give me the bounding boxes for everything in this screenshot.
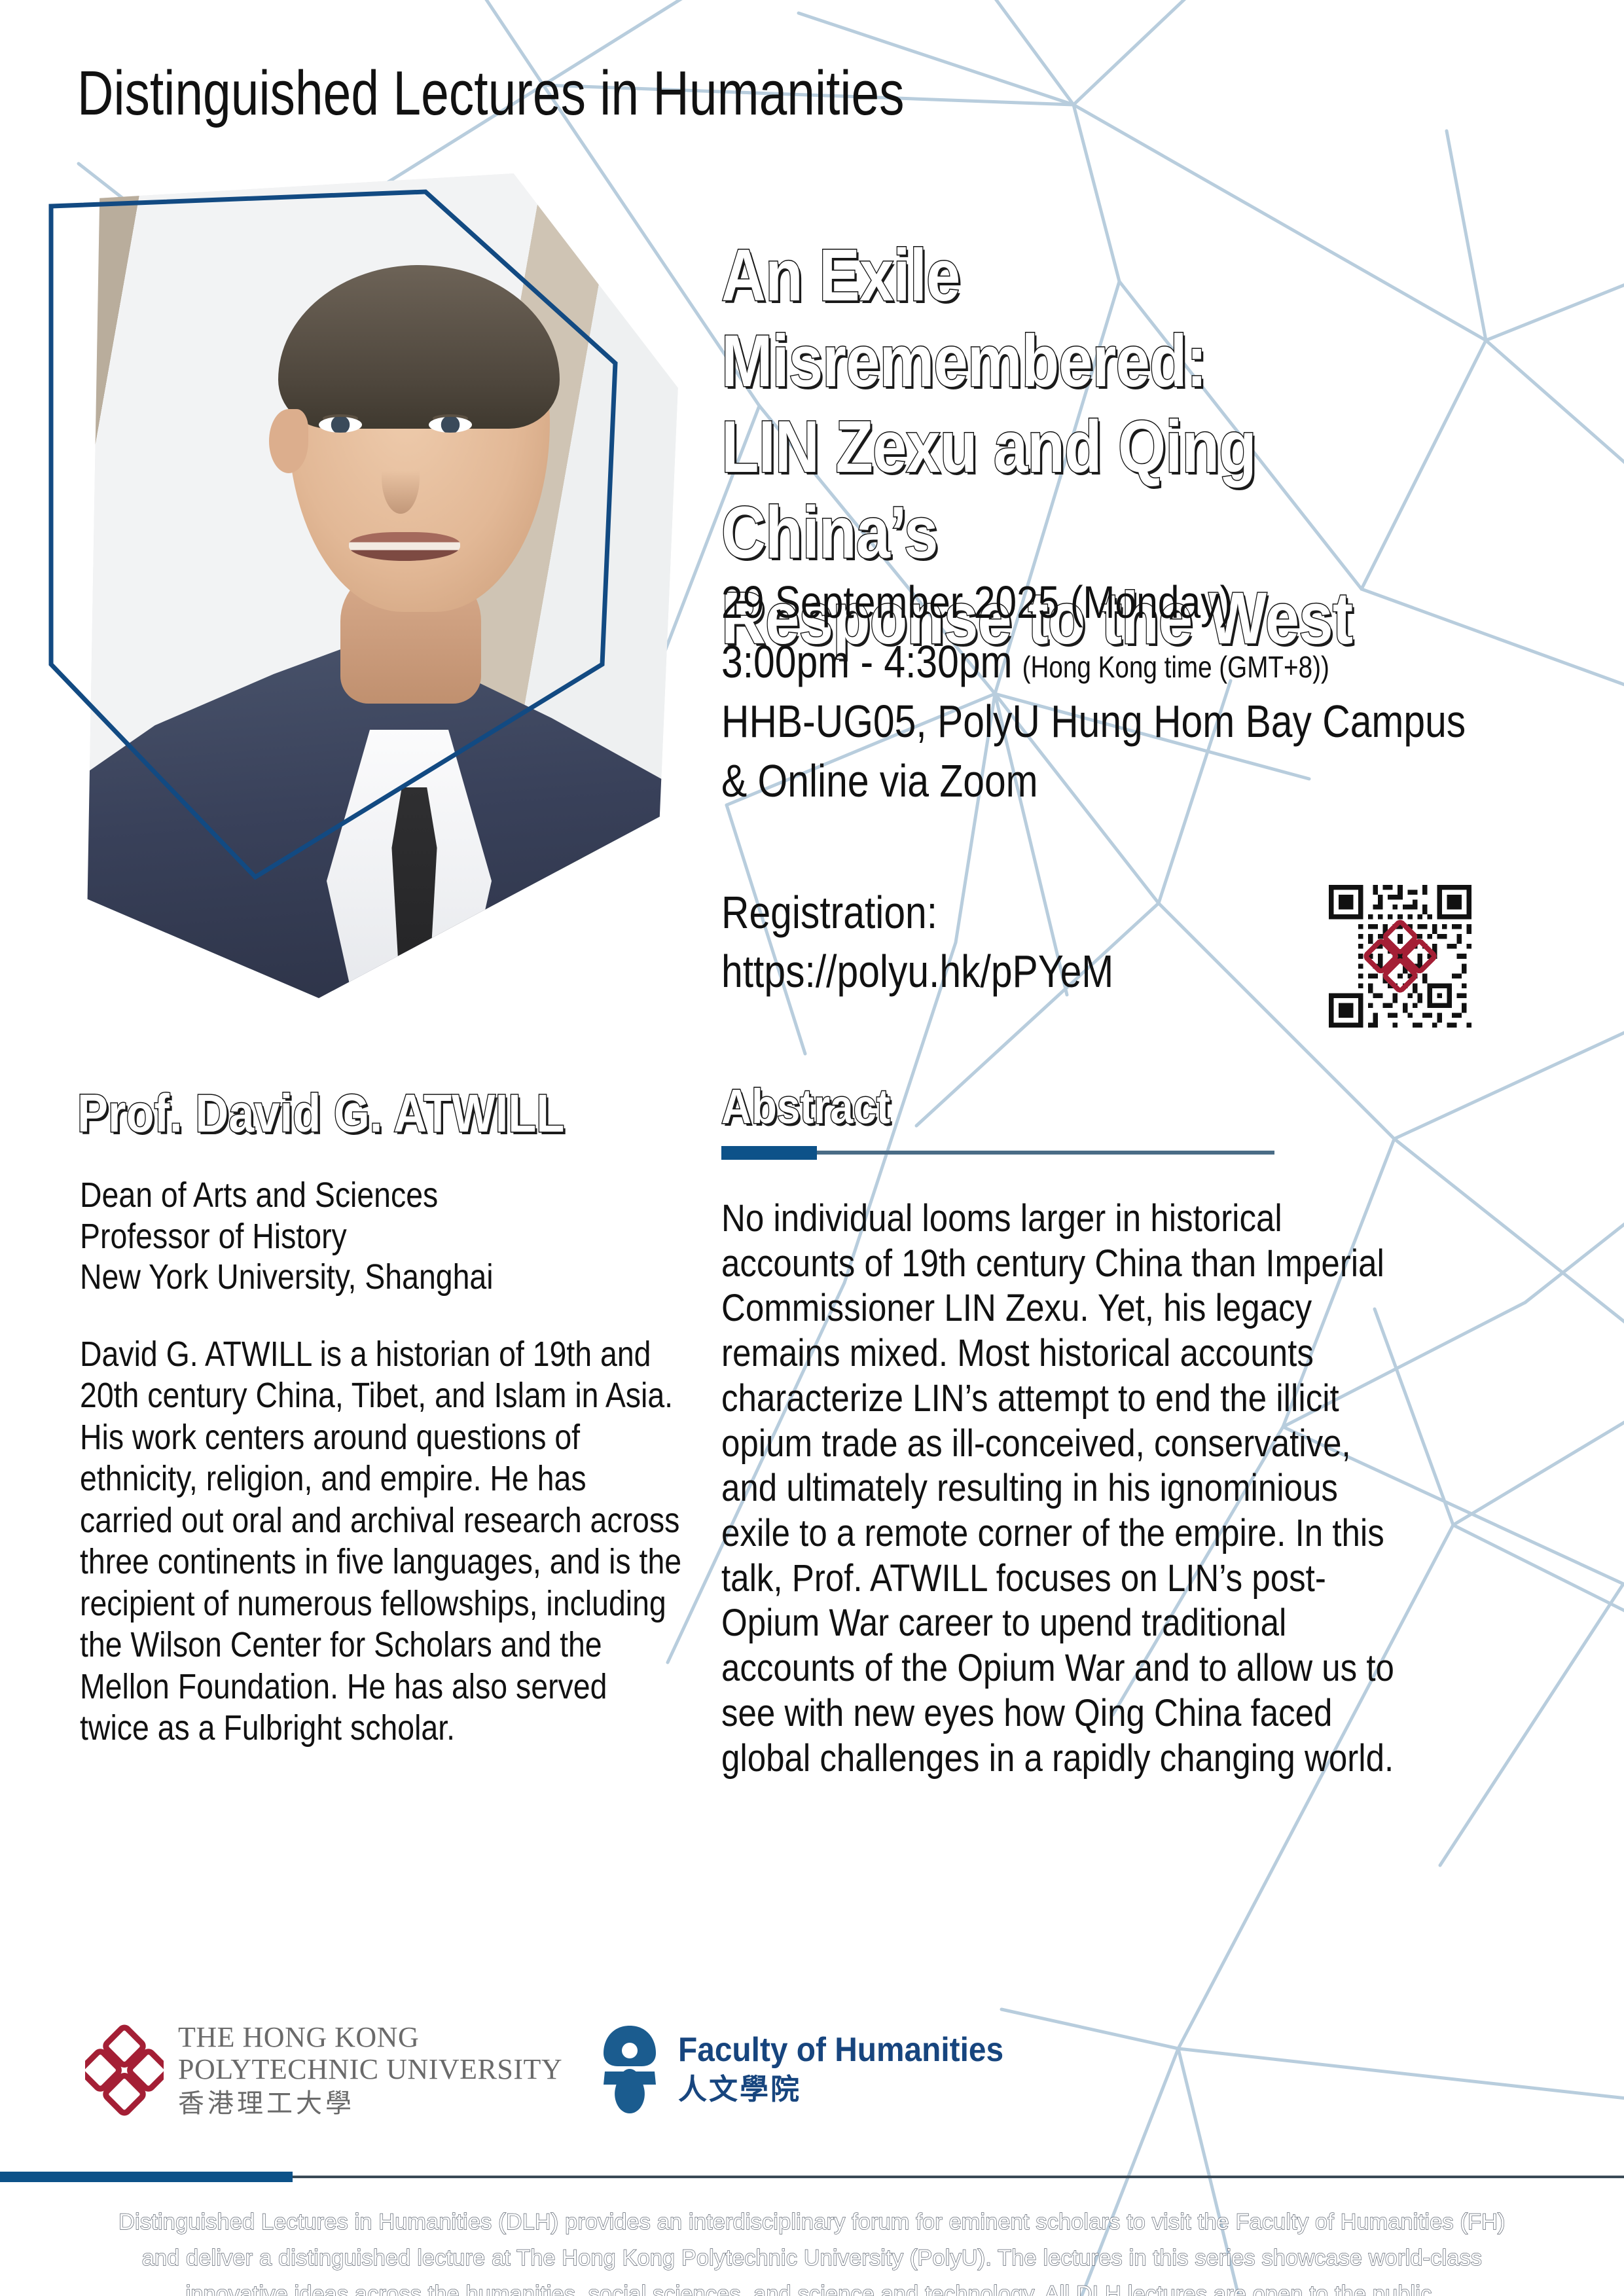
event-mode: & Online via Zoom — [721, 751, 1453, 811]
footer-note-line-1: Distinguished Lectures in Humanities (DL… — [0, 2204, 1624, 2240]
footer-note-line-3: innovative ideas across the humanities, … — [0, 2276, 1624, 2296]
speaker-affiliation: Dean of Arts and Sciences Professor of H… — [80, 1175, 586, 1298]
polyu-emblem-icon — [85, 2021, 164, 2119]
speaker-bio: David G. ATWILL is a historian of 19th a… — [80, 1334, 682, 1749]
lecture-title-line-2: LIN Zexu and Qing China’s — [721, 404, 1458, 575]
event-timezone: (Hong Kong time (GMT+8)) — [1022, 650, 1329, 684]
footer-divider — [0, 2172, 1624, 2182]
event-date: 29 September 2025 (Monday) — [721, 573, 1453, 632]
registration-block: Registration: https://polyu.hk/pPYeM — [721, 884, 1409, 1001]
polyu-name-line-2: POLYTECHNIC UNIVERSITY — [178, 2053, 562, 2085]
poster-root: Distinguished Lectures in Humanities An … — [0, 0, 1624, 2296]
registration-label: Registration: — [721, 884, 1299, 942]
speaker-affiliation-line-2: Professor of History — [80, 1216, 586, 1257]
polyu-name-zh: 香港理工大學 — [178, 2088, 562, 2119]
speaker-photo-image — [75, 173, 684, 998]
faculty-name-en: Faculty of Humanities — [678, 2032, 1003, 2069]
event-details: 29 September 2025 (Monday) 3:00pm - 4:30… — [721, 573, 1592, 811]
page-title: Distinguished Lectures in Humanities — [77, 62, 905, 125]
faculty-name-zh: 人文學院 — [678, 2073, 1032, 2108]
faculty-of-humanities-icon — [596, 2024, 664, 2115]
speaker-affiliation-line-1: Dean of Arts and Sciences — [80, 1175, 586, 1216]
speaker-photo — [39, 167, 720, 1024]
event-time: 3:00pm - 4:30pm — [721, 636, 1013, 687]
abstract-divider — [721, 1142, 1274, 1162]
footer-note: Distinguished Lectures in Humanities (DL… — [0, 2204, 1624, 2296]
qr-code-icon[interactable] — [1329, 885, 1471, 1028]
lecture-title-line-1: An Exile Misremembered: — [721, 232, 1458, 404]
abstract-body: No individual looms larger in historical… — [721, 1196, 1401, 1781]
speaker-name: Prof. David G. ATWILL — [77, 1083, 564, 1145]
event-venue: HHB-UG05, PolyU Hung Hom Bay Campus — [721, 692, 1453, 751]
faculty-of-humanities-logo: Faculty of Humanities 人文學院 — [596, 2024, 1032, 2115]
polyu-name-line-1: THE HONG KONG — [178, 2021, 562, 2053]
footer-note-line-2: and deliver a distinguished lecture at T… — [0, 2240, 1624, 2276]
abstract-heading: Abstract — [721, 1079, 890, 1134]
event-time-row: 3:00pm - 4:30pm(Hong Kong time (GMT+8)) — [721, 632, 1453, 692]
polyu-logo: THE HONG KONG POLYTECHNIC UNIVERSITY 香港理… — [85, 2021, 562, 2119]
registration-url[interactable]: https://polyu.hk/pPYeM — [721, 942, 1299, 1001]
speaker-affiliation-line-3: New York University, Shanghai — [80, 1257, 586, 1298]
